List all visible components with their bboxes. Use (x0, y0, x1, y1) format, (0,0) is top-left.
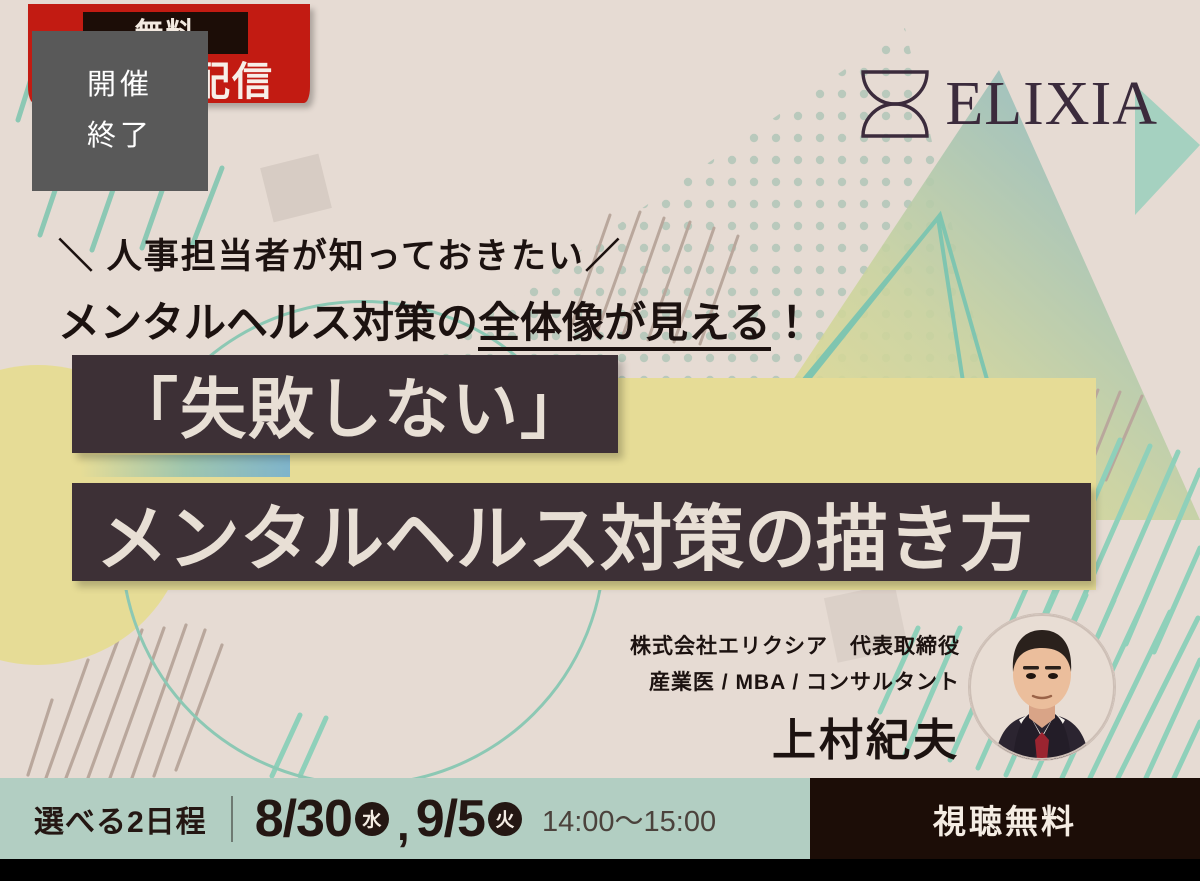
ended-overlay-line2: 終了 (87, 122, 153, 151)
session-time: 14:00〜15:00 (542, 798, 716, 840)
lead-headline: ＼ 人事担当者が知っておきたい／ メンタルヘルス対策の全体像が見える！ (58, 228, 813, 350)
bottom-bar-right: 視聴無料 (810, 778, 1200, 859)
brown-hatch-bottomleft (28, 625, 222, 778)
teal-stripes-bottomleft (272, 715, 326, 776)
speaker-info: 株式会社エリクシア 代表取締役 産業医 / MBA / コンサルタント 上村紀夫 (540, 630, 960, 768)
title-box-line-1: 「失敗しない」 (72, 355, 618, 453)
event-ended-overlay: 開催 終了 (32, 31, 208, 191)
lead-line-1: ＼ 人事担当者が知っておきたい／ (58, 228, 813, 279)
date-separator: , (397, 800, 410, 848)
price-label: 視聴無料 (933, 795, 1077, 843)
webinar-banner: 無料 ライブ配信 開催 終了 ELIXIA ＼ 人事担当者が知っておきたい／ メ… (0, 0, 1200, 881)
speaker-portrait (968, 613, 1116, 761)
lead-line-2-prefix: メンタルヘルス対策の (58, 299, 478, 346)
lead-line-2: メンタルヘルス対策の全体像が見える！ (58, 289, 813, 350)
bottom-bar-left: 選べる2日程 8/30 水 , 9/5 火 14:00〜15:00 (0, 778, 810, 859)
date-list: 8/30 水 , 9/5 火 (255, 789, 524, 849)
bottom-info-bar: 選べる2日程 8/30 水 , 9/5 火 14:00〜15:00 視聴無料 (0, 778, 1200, 859)
date-2-dayofweek: 火 (488, 802, 522, 836)
speaker-organization: 株式会社エリクシア 代表取締役 (540, 630, 960, 660)
hourglass-icon (849, 60, 941, 148)
bar-divider (231, 796, 233, 842)
schedule-label: 選べる2日程 (34, 797, 207, 841)
date-1: 8/30 (255, 789, 352, 849)
date-2: 9/5 (416, 789, 485, 849)
date-1-dayofweek: 水 (355, 802, 389, 836)
lead-line-2-suffix: ！ (771, 299, 813, 346)
ended-overlay-line1: 開催 (87, 71, 153, 100)
speaker-name: 上村紀夫 (540, 704, 960, 768)
title-box-line-2: メンタルヘルス対策の描き方 (72, 483, 1091, 581)
lead-line-2-emphasis: 全体像が見える (478, 299, 771, 351)
portrait-illustration (969, 614, 1115, 760)
elixia-logo: ELIXIA (849, 60, 1158, 148)
elixia-wordmark: ELIXIA (945, 73, 1158, 135)
speaker-role: 産業医 / MBA / コンサルタント (540, 666, 960, 696)
bottom-black-strip (0, 859, 1200, 881)
